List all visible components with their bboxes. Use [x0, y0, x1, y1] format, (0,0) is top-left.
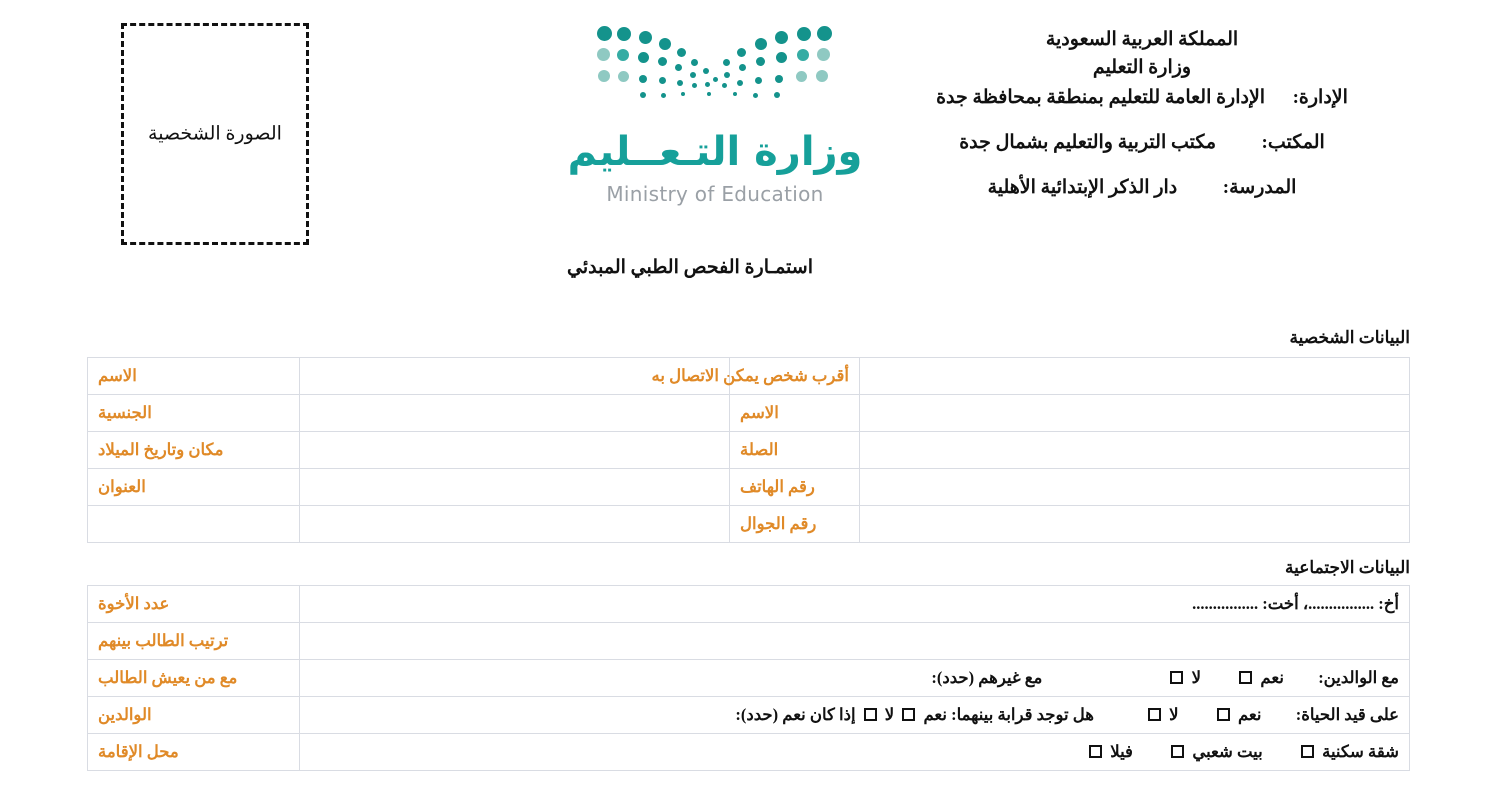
form-title: استمـارة الفحص الطبي المبدئي — [0, 256, 1500, 279]
label-contact-phone: رقم الهاتف — [730, 469, 860, 506]
value-cell-extra[interactable] — [300, 506, 730, 543]
label-siblings-count: عدد الأخوة — [88, 586, 300, 623]
header-kingdom: المملكة العربية السعودية — [872, 26, 1412, 54]
table-row: الصلة مكان وتاريخ الميلاد — [88, 432, 1410, 469]
label-parents: الوالدين — [88, 697, 300, 734]
value-cell-contact-mobile[interactable] — [860, 506, 1410, 543]
header-ministry: وزارة التعليم — [872, 54, 1412, 82]
value-cell-parents[interactable]: على قيد الحياة: نعم لا هل توجد قرابة بين… — [300, 697, 1410, 734]
residence-option-apartment-label: شقة سكنية — [1322, 742, 1399, 761]
lives-with-others-label: مع غيرهم (حدد): — [931, 668, 1042, 687]
label-address: العنوان — [88, 469, 300, 506]
table-row: مع الوالدين: نعم لا مع غيرهم (حدد): مع م… — [88, 660, 1410, 697]
parents-alive-yes-label: نعم — [1238, 705, 1262, 724]
table-row: رقم الجوال — [88, 506, 1410, 543]
header-administration-label: الإدارة: — [1293, 87, 1348, 108]
contact-section-header: أقرب شخص يمكن الاتصال به — [730, 358, 860, 395]
document-header: المملكة العربية السعودية وزارة التعليم ا… — [872, 26, 1412, 202]
lives-with-parents-yes-label: نعم — [1260, 668, 1284, 687]
value-cell-nationality[interactable] — [300, 395, 730, 432]
checkbox-residence-popular-house[interactable] — [1171, 745, 1184, 758]
table-row: على قيد الحياة: نعم لا هل توجد قرابة بين… — [88, 697, 1410, 734]
residence-option-villa-label: فيلا — [1110, 742, 1133, 761]
parents-relation-no-label: لا — [885, 705, 894, 724]
label-contact-name: الاسم — [730, 395, 860, 432]
table-row: شقة سكنية بيت شعبي فيلا محل الإقامة — [88, 734, 1410, 771]
value-cell-contact-relation[interactable] — [860, 432, 1410, 469]
personal-data-table: أقرب شخص يمكن الاتصال به الاسم الاسم الج… — [87, 357, 1410, 543]
lives-with-parents-label: مع الوالدين: — [1318, 668, 1399, 687]
value-cell-contact-name[interactable] — [860, 395, 1410, 432]
parents-alive-label: على قيد الحياة: — [1296, 705, 1399, 724]
label-student-order: ترتيب الطالب بينهم — [88, 623, 300, 660]
header-school-value: دار الذكر الإبتدائية الأهلية — [988, 177, 1178, 198]
label-name: الاسم — [88, 358, 300, 395]
value-cell-birth-place-date[interactable] — [300, 432, 730, 469]
personal-photo-placeholder: الصورة الشخصية — [121, 23, 309, 245]
header-office: المكتب: مكتب التربية والتعليم بشمال جدة — [872, 129, 1412, 157]
header-office-label: المكتب: — [1262, 132, 1325, 153]
header-administration: الإدارة: الإدارة العامة للتعليم بمنطقة ب… — [872, 84, 1412, 112]
label-nationality: الجنسية — [88, 395, 300, 432]
header-office-value: مكتب التربية والتعليم بشمال جدة — [959, 132, 1216, 153]
label-birth-place-date: مكان وتاريخ الميلاد — [88, 432, 300, 469]
table-row: الاسم الجنسية — [88, 395, 1410, 432]
table-row: أقرب شخص يمكن الاتصال به الاسم — [88, 358, 1410, 395]
label-residence: محل الإقامة — [88, 734, 300, 771]
value-cell-residence[interactable]: شقة سكنية بيت شعبي فيلا — [300, 734, 1410, 771]
table-row: ترتيب الطالب بينهم — [88, 623, 1410, 660]
logo-wordmark-arabic: وزارة التـعــليم — [565, 132, 865, 172]
table-row: أخ: ................، أخت: .............… — [88, 586, 1410, 623]
label-lives-with: مع من يعيش الطالب — [88, 660, 300, 697]
label-contact-relation: الصلة — [730, 432, 860, 469]
siblings-brother-dots: ................، — [1303, 594, 1374, 613]
value-cell-student-order[interactable] — [300, 623, 1410, 660]
logo-dot-pattern-icon — [595, 24, 835, 106]
parents-relation-specify: إذا كان نعم (حدد): — [735, 705, 855, 724]
checkbox-parents-relation-no[interactable] — [864, 708, 877, 721]
contact-header-spacer — [860, 358, 1410, 395]
checkbox-residence-apartment[interactable] — [1301, 745, 1314, 758]
value-cell-lives-with[interactable]: مع الوالدين: نعم لا مع غيرهم (حدد): — [300, 660, 1410, 697]
section-heading-personal-data: البيانات الشخصية — [1289, 328, 1410, 348]
value-cell-address[interactable] — [300, 469, 730, 506]
siblings-brother-label: أخ: — [1378, 594, 1399, 613]
checkbox-parents-alive-no[interactable] — [1148, 708, 1161, 721]
parents-relation-yes-label: نعم — [923, 705, 947, 724]
siblings-sister-dots: ................ — [1192, 594, 1258, 613]
ministry-of-education-logo: وزارة التـعــليم Ministry of Education — [565, 24, 865, 224]
header-school: المدرسة: دار الذكر الإبتدائية الأهلية — [872, 174, 1412, 202]
lives-with-parents-no-label: لا — [1192, 668, 1201, 687]
social-data-table: أخ: ................، أخت: .............… — [87, 585, 1410, 771]
checkbox-lives-with-parents-no[interactable] — [1170, 671, 1183, 684]
siblings-sister-label: أخت: — [1262, 594, 1298, 613]
parents-relation-question: هل توجد قرابة بينهما: — [951, 705, 1094, 724]
label-cell-empty — [88, 506, 300, 543]
value-cell-siblings-count[interactable]: أخ: ................، أخت: .............… — [300, 586, 1410, 623]
photo-placeholder-label: الصورة الشخصية — [124, 123, 306, 146]
checkbox-parents-relation-yes[interactable] — [902, 708, 915, 721]
section-heading-social-data: البيانات الاجتماعية — [1285, 558, 1410, 578]
checkbox-lives-with-parents-yes[interactable] — [1239, 671, 1252, 684]
label-contact-mobile: رقم الجوال — [730, 506, 860, 543]
residence-option-popular-house-label: بيت شعبي — [1192, 742, 1262, 761]
header-school-label: المدرسة: — [1223, 177, 1297, 198]
table-row: رقم الهاتف العنوان — [88, 469, 1410, 506]
parents-alive-no-label: لا — [1169, 705, 1178, 724]
value-cell-contact-phone[interactable] — [860, 469, 1410, 506]
header-administration-value: الإدارة العامة للتعليم بمنطقة بمحافظة جد… — [936, 87, 1265, 108]
checkbox-parents-alive-yes[interactable] — [1217, 708, 1230, 721]
logo-wordmark-english: Ministry of Education — [565, 182, 865, 206]
checkbox-residence-villa[interactable] — [1089, 745, 1102, 758]
